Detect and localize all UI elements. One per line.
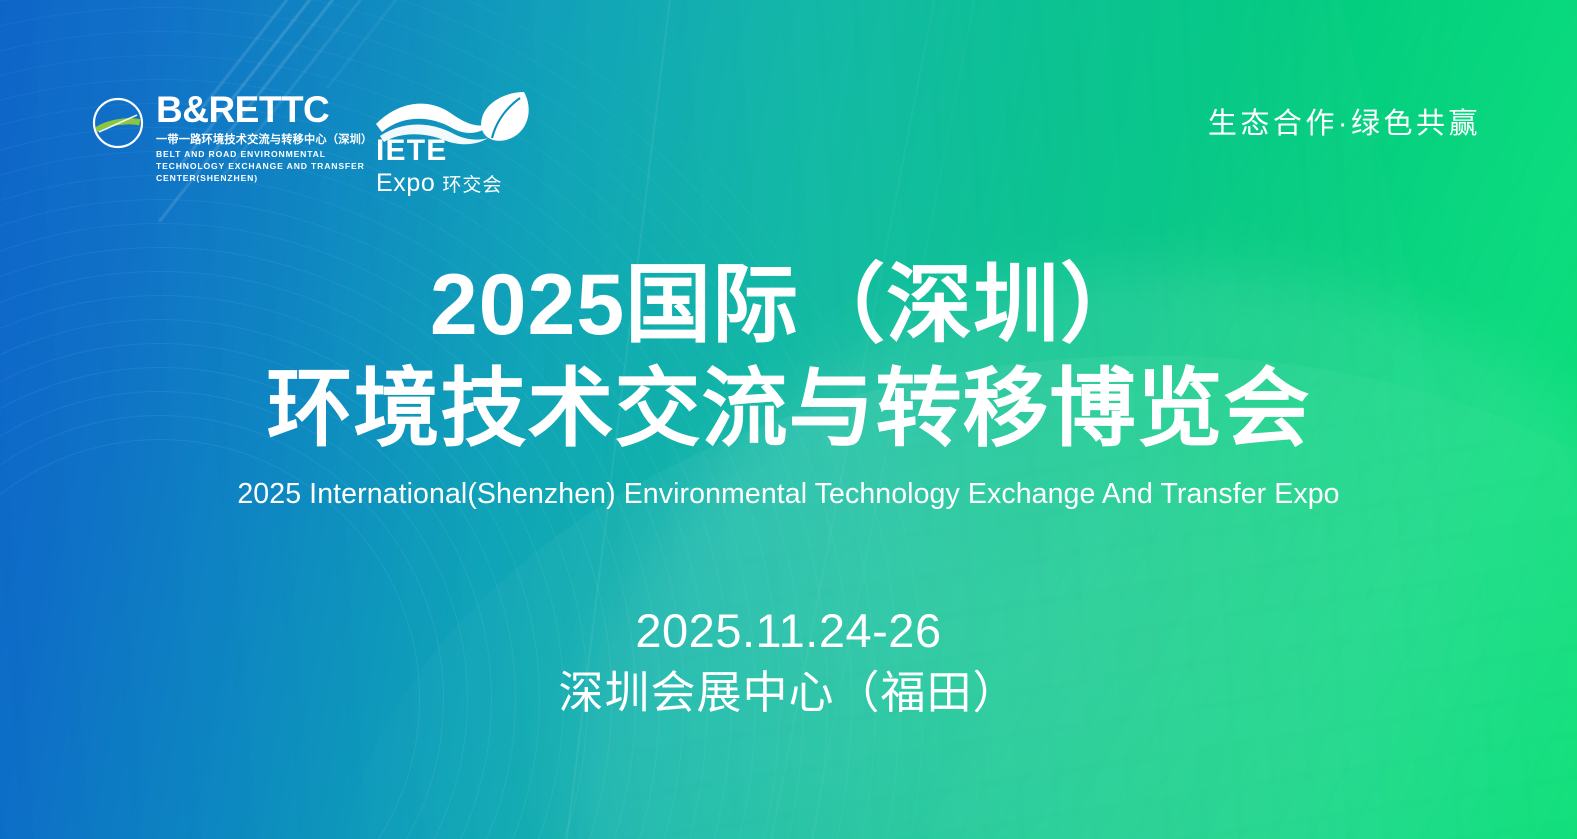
iete-expo-word: Expo — [376, 171, 435, 196]
iete-chinese-name: 环交会 — [442, 176, 502, 195]
event-banner: B&RETTC 一带一路环境技术交流与转移中心（深圳） BELT AND ROA… — [0, 0, 1577, 839]
brettc-logo: B&RETTC 一带一路环境技术交流与转移中心（深圳） BELT AND ROA… — [90, 91, 372, 185]
event-venue: 深圳会展中心（福田） — [0, 666, 1577, 720]
brettc-text-block: B&RETTC 一带一路环境技术交流与转移中心（深圳） BELT AND ROA… — [156, 91, 372, 185]
event-date: 2025.11.24-26 — [0, 605, 1577, 658]
hero-title-line-1: 2025国际（深圳） — [0, 262, 1577, 350]
event-tagline: 生态合作·绿色共赢 — [1208, 100, 1481, 142]
banner-header: B&RETTC 一带一路环境技术交流与转移中心（深圳） BELT AND ROA… — [0, 88, 1577, 198]
iete-text-block: IETE Expo 环交会 — [376, 136, 502, 196]
iete-acronym: IETE — [376, 136, 502, 166]
brettc-title: B&RETTC — [156, 89, 329, 130]
brettc-chinese-name: 一带一路环境技术交流与转移中心（深圳） — [156, 133, 372, 147]
iete-subtitle-row: Expo 环交会 — [376, 171, 502, 196]
brettc-english-name: BELT AND ROAD ENVIRONMENTAL TECHNOLOGY E… — [156, 149, 366, 185]
event-details-block: 2025.11.24-26 深圳会展中心（福田） — [0, 605, 1577, 720]
hero-title-line-2: 环境技术交流与转移博览会 — [0, 364, 1577, 454]
banner-content: B&RETTC 一带一路环境技术交流与转移中心（深圳） BELT AND ROA… — [0, 0, 1577, 839]
hero-title-block: 2025国际（深圳） 环境技术交流与转移博览会 2025 Internation… — [0, 262, 1577, 511]
iete-expo-logo: IETE Expo 环交会 — [374, 88, 544, 194]
globe-circle-icon — [90, 95, 146, 151]
hero-subtitle-english: 2025 International(Shenzhen) Environment… — [0, 478, 1577, 511]
